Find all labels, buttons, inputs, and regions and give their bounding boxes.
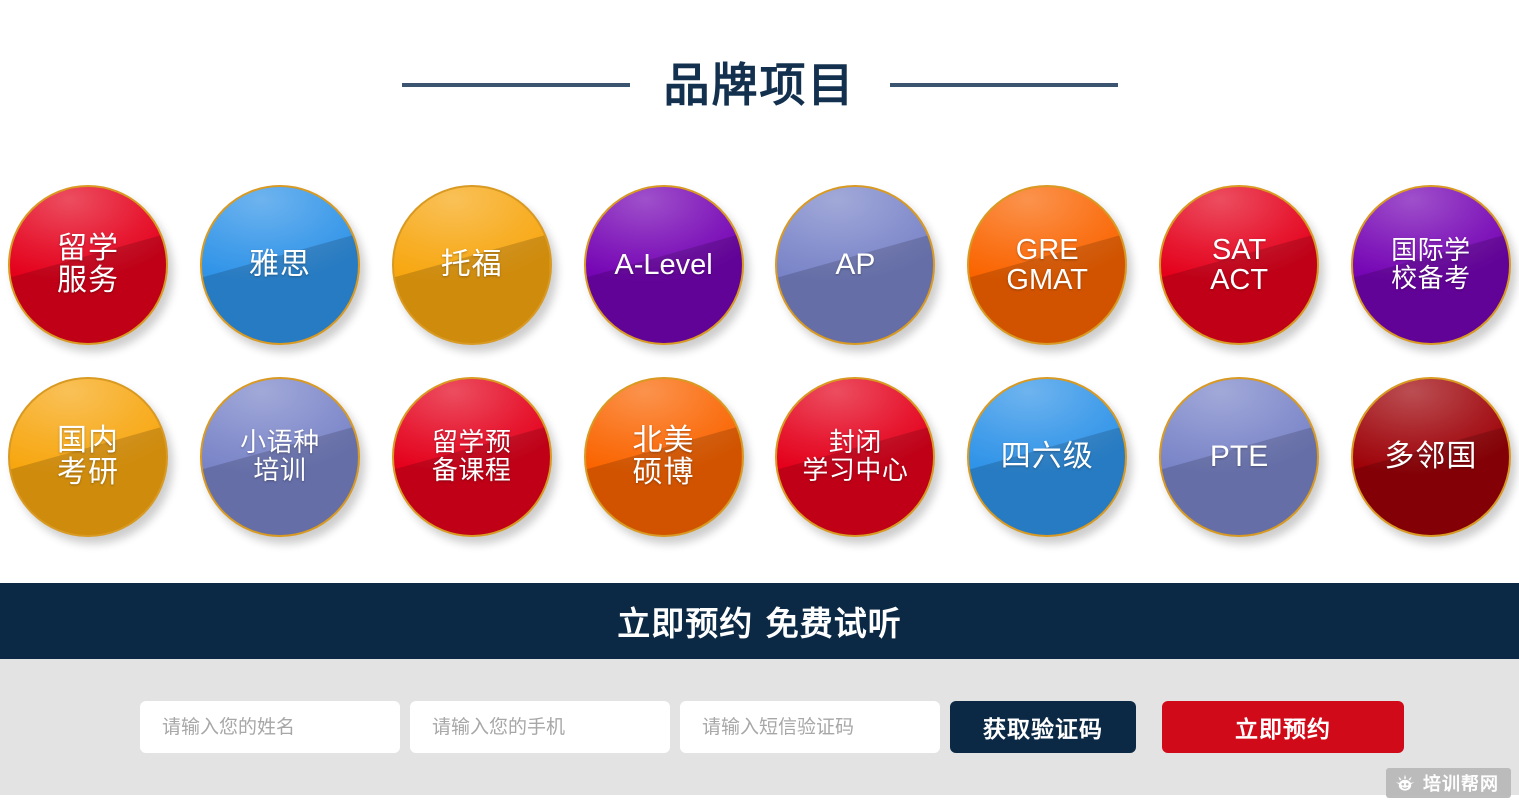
program-bubble-liuxue-yubei-kecheng[interactable]: 留学预 备课程 [392, 377, 552, 537]
brand-programs-page: 品牌项目 留学 服务 雅思 托福 A-Level AP [0, 0, 1519, 804]
program-label: 四六级 [995, 441, 1100, 473]
program-label: 国内 考研 [51, 425, 125, 490]
program-grid-row-2: 国内 考研 小语种 培训 留学预 备课程 北美 硕博 封闭 学习中心 四六级 [0, 377, 1519, 537]
sun-face-icon [1394, 773, 1416, 793]
booking-form: 获取验证码 立即预约 [140, 701, 1404, 753]
cta-banner-text: 立即预约 免费试听 [617, 597, 902, 645]
program-label: 国际学 校备考 [1385, 237, 1477, 293]
program-bubble-guoji-xuexiao-beikao[interactable]: 国际学 校备考 [1351, 185, 1511, 345]
booking-form-strip: 获取验证码 立即预约 [0, 659, 1519, 795]
program-label: GRE GMAT [1000, 235, 1094, 296]
site-watermark: 培训帮网 [1386, 768, 1511, 798]
phone-input[interactable] [410, 701, 670, 753]
program-label: 封闭 学习中心 [796, 429, 914, 485]
program-bubble-pte[interactable]: PTE [1159, 377, 1319, 537]
heading-rule-right [890, 83, 1118, 87]
program-label: AP [829, 249, 881, 281]
program-label: 托福 [435, 249, 509, 281]
program-bubble-ap[interactable]: AP [775, 185, 935, 345]
sms-code-input[interactable] [680, 701, 940, 753]
get-code-button[interactable]: 获取验证码 [950, 701, 1136, 753]
watermark-text: 培训帮网 [1423, 770, 1499, 796]
section-heading: 品牌项目 [0, 62, 1519, 108]
program-label: 小语种 培训 [234, 429, 326, 485]
program-bubble-yasi[interactable]: 雅思 [200, 185, 360, 345]
submit-booking-button[interactable]: 立即预约 [1162, 701, 1404, 753]
program-bubble-fengbi-xuexi-zhongxin[interactable]: 封闭 学习中心 [775, 377, 935, 537]
program-bubble-guonei-kaoyan[interactable]: 国内 考研 [8, 377, 168, 537]
heading-rule-left [402, 83, 630, 87]
program-label: 多邻国 [1378, 441, 1483, 473]
program-bubble-duolingguo[interactable]: 多邻国 [1351, 377, 1511, 537]
program-bubble-liuxue-fuwu[interactable]: 留学 服务 [8, 185, 168, 345]
program-bubble-beimei-shuobo[interactable]: 北美 硕博 [584, 377, 744, 537]
program-bubble-si-liu-ji[interactable]: 四六级 [967, 377, 1127, 537]
program-bubble-a-level[interactable]: A-Level [584, 185, 744, 345]
program-label: SAT ACT [1204, 235, 1274, 296]
program-bubble-xiaoyuzhong-peixun[interactable]: 小语种 培训 [200, 377, 360, 537]
program-label: A-Level [608, 250, 718, 280]
program-label: 留学预 备课程 [426, 429, 518, 485]
page-title: 品牌项目 [664, 62, 856, 108]
program-bubble-sat-act[interactable]: SAT ACT [1159, 185, 1319, 345]
program-bubble-tuofu[interactable]: 托福 [392, 185, 552, 345]
cta-banner: 立即预约 免费试听 [0, 583, 1519, 659]
program-label: PTE [1204, 441, 1274, 473]
program-label: 留学 服务 [51, 233, 125, 298]
program-grid-row-1: 留学 服务 雅思 托福 A-Level AP GRE GMAT [0, 185, 1519, 345]
program-label: 北美 硕博 [627, 425, 701, 490]
name-input[interactable] [140, 701, 400, 753]
program-bubble-gre-gmat[interactable]: GRE GMAT [967, 185, 1127, 345]
program-label: 雅思 [243, 249, 317, 281]
